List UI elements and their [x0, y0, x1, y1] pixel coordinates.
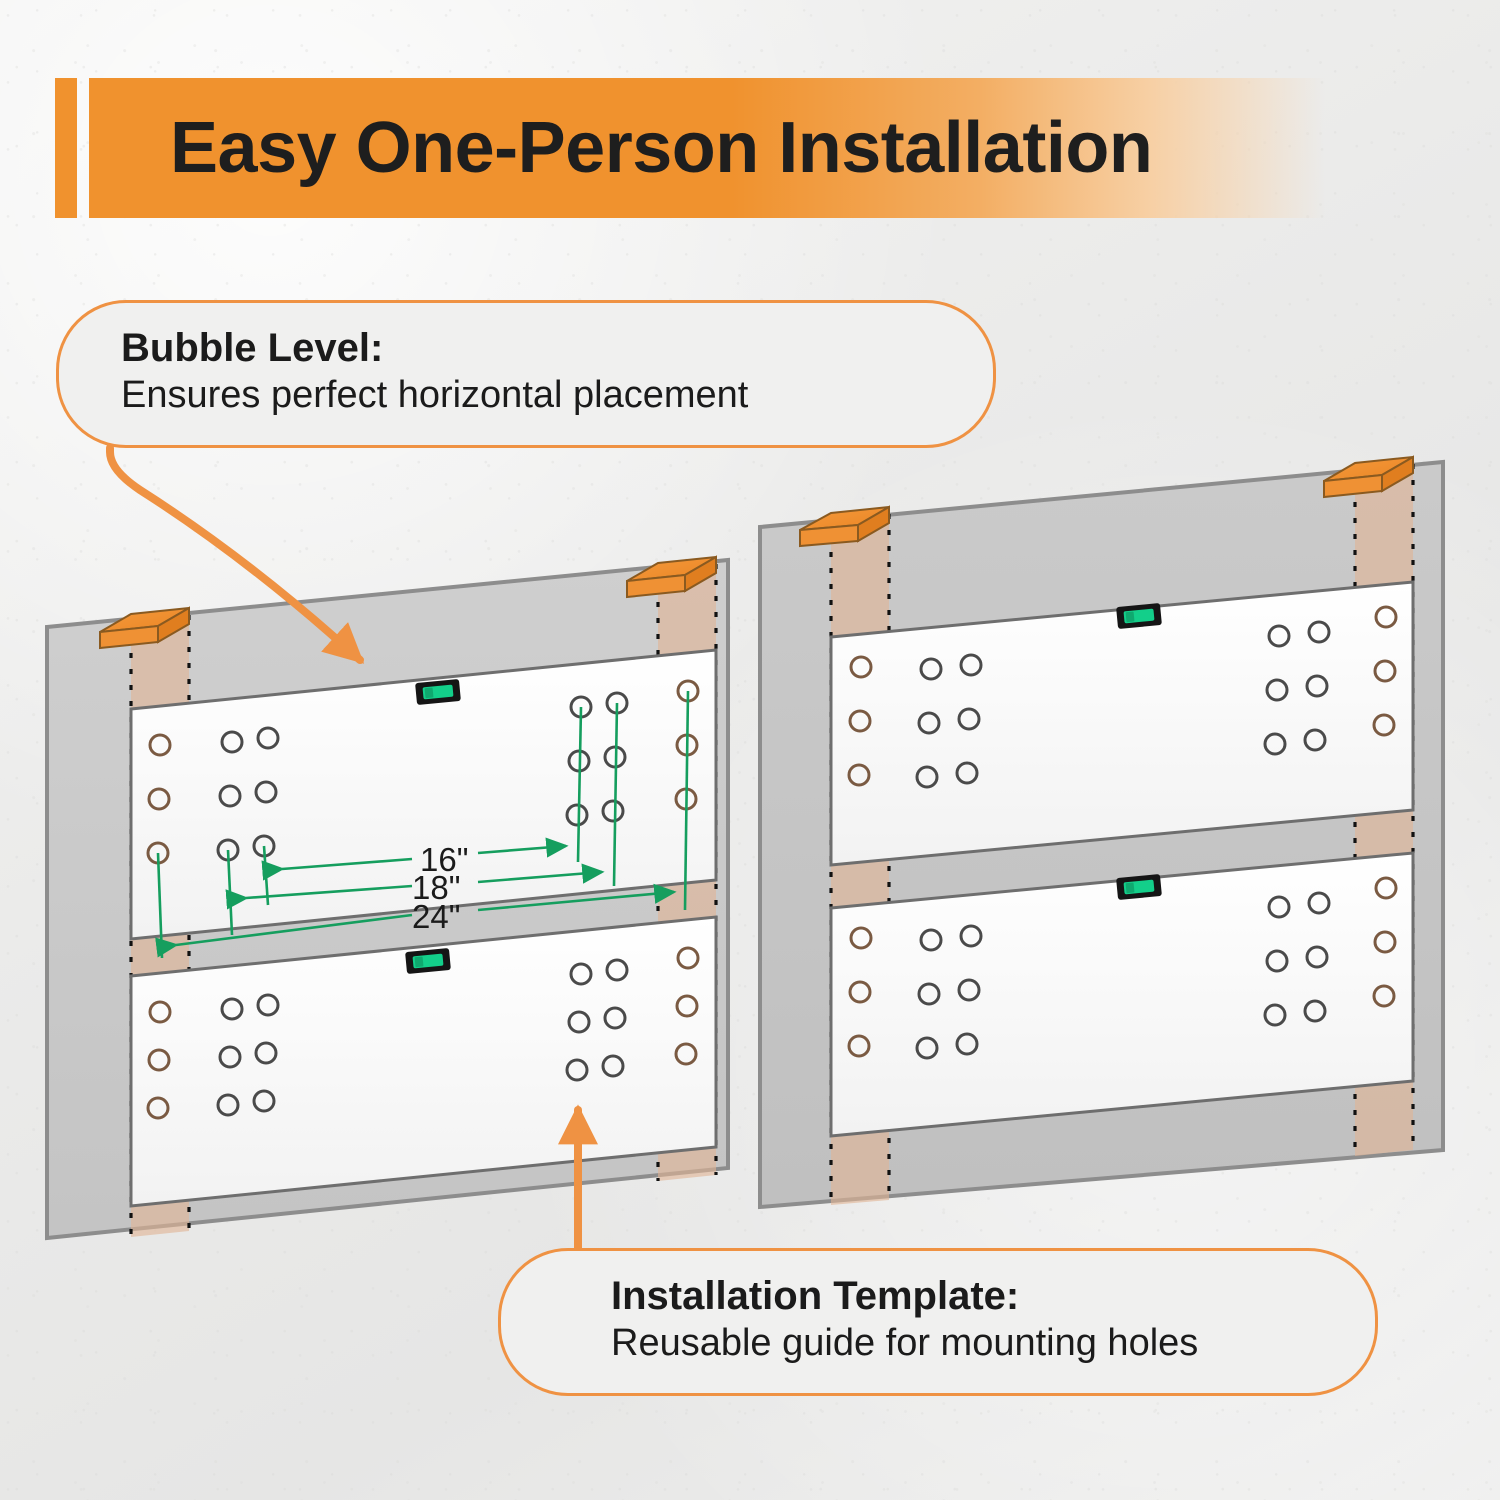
measurement-labels: 16" 18" 24" [412, 841, 468, 935]
right-wall-panel [760, 457, 1443, 1207]
header-banner: Easy One-Person Installation [55, 78, 1325, 218]
bubble-level-right-bottom [1116, 874, 1162, 900]
callout-bubble-level-title: Bubble Level: [121, 325, 947, 372]
callout-installation-template-subtitle: Reusable guide for mounting holes [611, 1320, 1329, 1368]
callout-bubble-level-subtitle: Ensures perfect horizontal placement [121, 372, 947, 420]
callout-bubble-level: Bubble Level: Ensures perfect horizontal… [56, 300, 996, 448]
page-title: Easy One-Person Installation [170, 78, 1152, 218]
callout-installation-template: Installation Template: Reusable guide fo… [498, 1248, 1378, 1396]
callout-installation-template-title: Installation Template: [611, 1273, 1329, 1320]
bubble-level-left-bottom [405, 948, 451, 974]
bubble-level-right-top [1116, 603, 1162, 629]
header-accent-bar [55, 78, 77, 218]
left-wall-panel: 16" 18" 24" [47, 557, 728, 1238]
bubble-level-left-top [415, 679, 461, 705]
measure-label-24: 24" [412, 898, 460, 935]
